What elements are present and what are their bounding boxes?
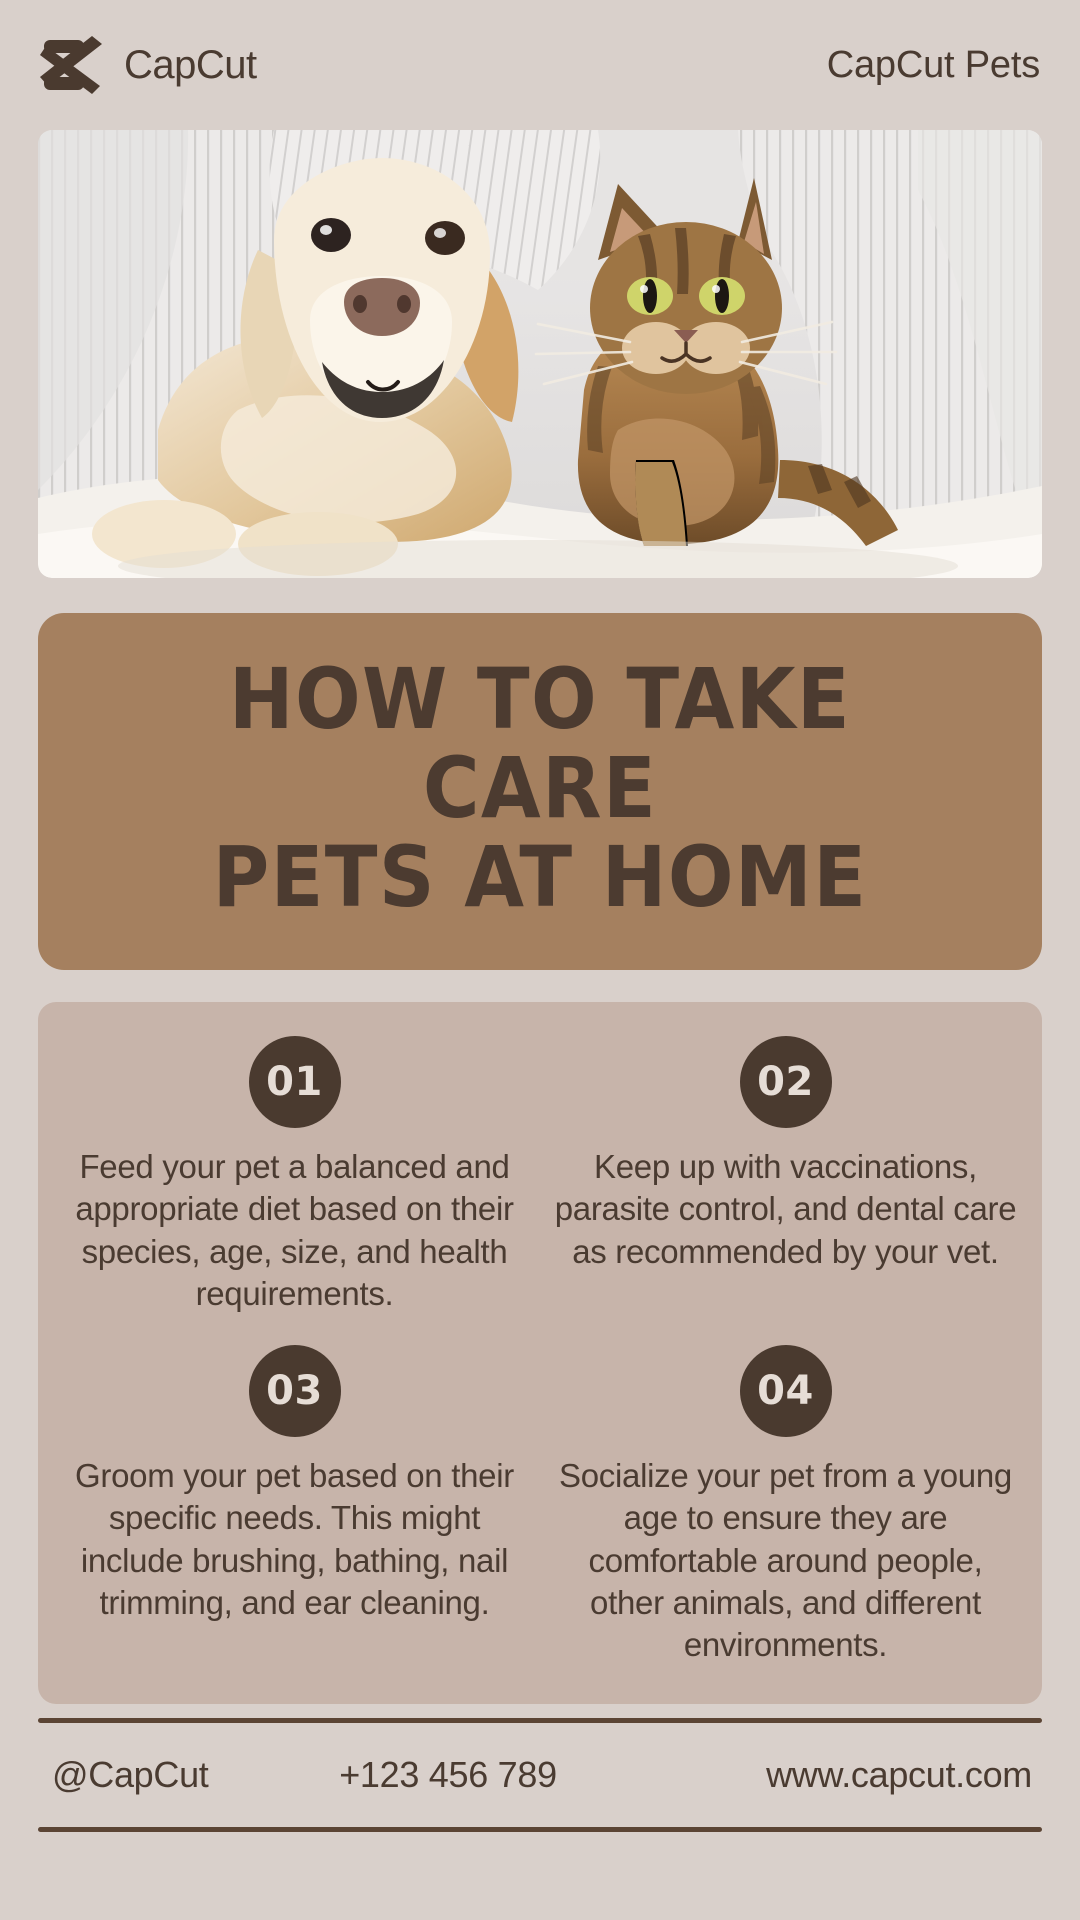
page-title: HOW TO TAKE CARE PETS AT HOME — [106, 655, 974, 922]
hero-illustration — [38, 130, 1042, 578]
footer-website[interactable]: www.capcut.com — [681, 1754, 1042, 1796]
footer-social-handle[interactable]: @CapCut — [38, 1754, 339, 1796]
tip-number-02: 02 — [757, 1059, 814, 1105]
tip-number-01: 01 — [266, 1059, 323, 1105]
tip-item-01: 01 Feed your pet a balanced and appropri… — [62, 1036, 527, 1315]
title-banner: HOW TO TAKE CARE PETS AT HOME — [38, 613, 1042, 970]
tip-text-03: Groom your pet based on their specific n… — [62, 1455, 527, 1624]
footer-divider-bottom — [38, 1827, 1042, 1832]
infographic-page: CapCut CapCut Pets — [0, 0, 1080, 1920]
tip-number-04: 04 — [757, 1368, 814, 1414]
page-header: CapCut CapCut Pets — [38, 0, 1042, 130]
brand-lockup: CapCut — [40, 36, 257, 94]
brand-name: CapCut — [124, 43, 257, 88]
title-line-2: PETS AT HOME — [106, 833, 974, 922]
tip-item-03: 03 Groom your pet based on their specifi… — [62, 1345, 527, 1666]
header-right-label: CapCut Pets — [827, 44, 1040, 87]
tip-number-badge-04: 04 — [740, 1345, 832, 1437]
tip-item-04: 04 Socialize your pet from a young age t… — [553, 1345, 1018, 1666]
page-footer: @CapCut +123 456 789 www.capcut.com — [38, 1723, 1042, 1827]
capcut-logo-icon — [40, 36, 106, 94]
tip-text-01: Feed your pet a balanced and appropriate… — [62, 1146, 527, 1315]
tips-card: 01 Feed your pet a balanced and appropri… — [38, 1002, 1042, 1704]
tip-text-04: Socialize your pet from a young age to e… — [553, 1455, 1018, 1666]
tip-number-badge-01: 01 — [249, 1036, 341, 1128]
tip-number-badge-03: 03 — [249, 1345, 341, 1437]
tip-number-03: 03 — [266, 1368, 323, 1414]
tip-number-badge-02: 02 — [740, 1036, 832, 1128]
hero-photo — [38, 130, 1042, 578]
title-line-1: HOW TO TAKE CARE — [106, 655, 974, 833]
tip-text-02: Keep up with vaccinations, parasite cont… — [553, 1146, 1018, 1273]
footer-phone[interactable]: +123 456 789 — [339, 1754, 680, 1796]
tip-item-02: 02 Keep up with vaccinations, parasite c… — [553, 1036, 1018, 1315]
